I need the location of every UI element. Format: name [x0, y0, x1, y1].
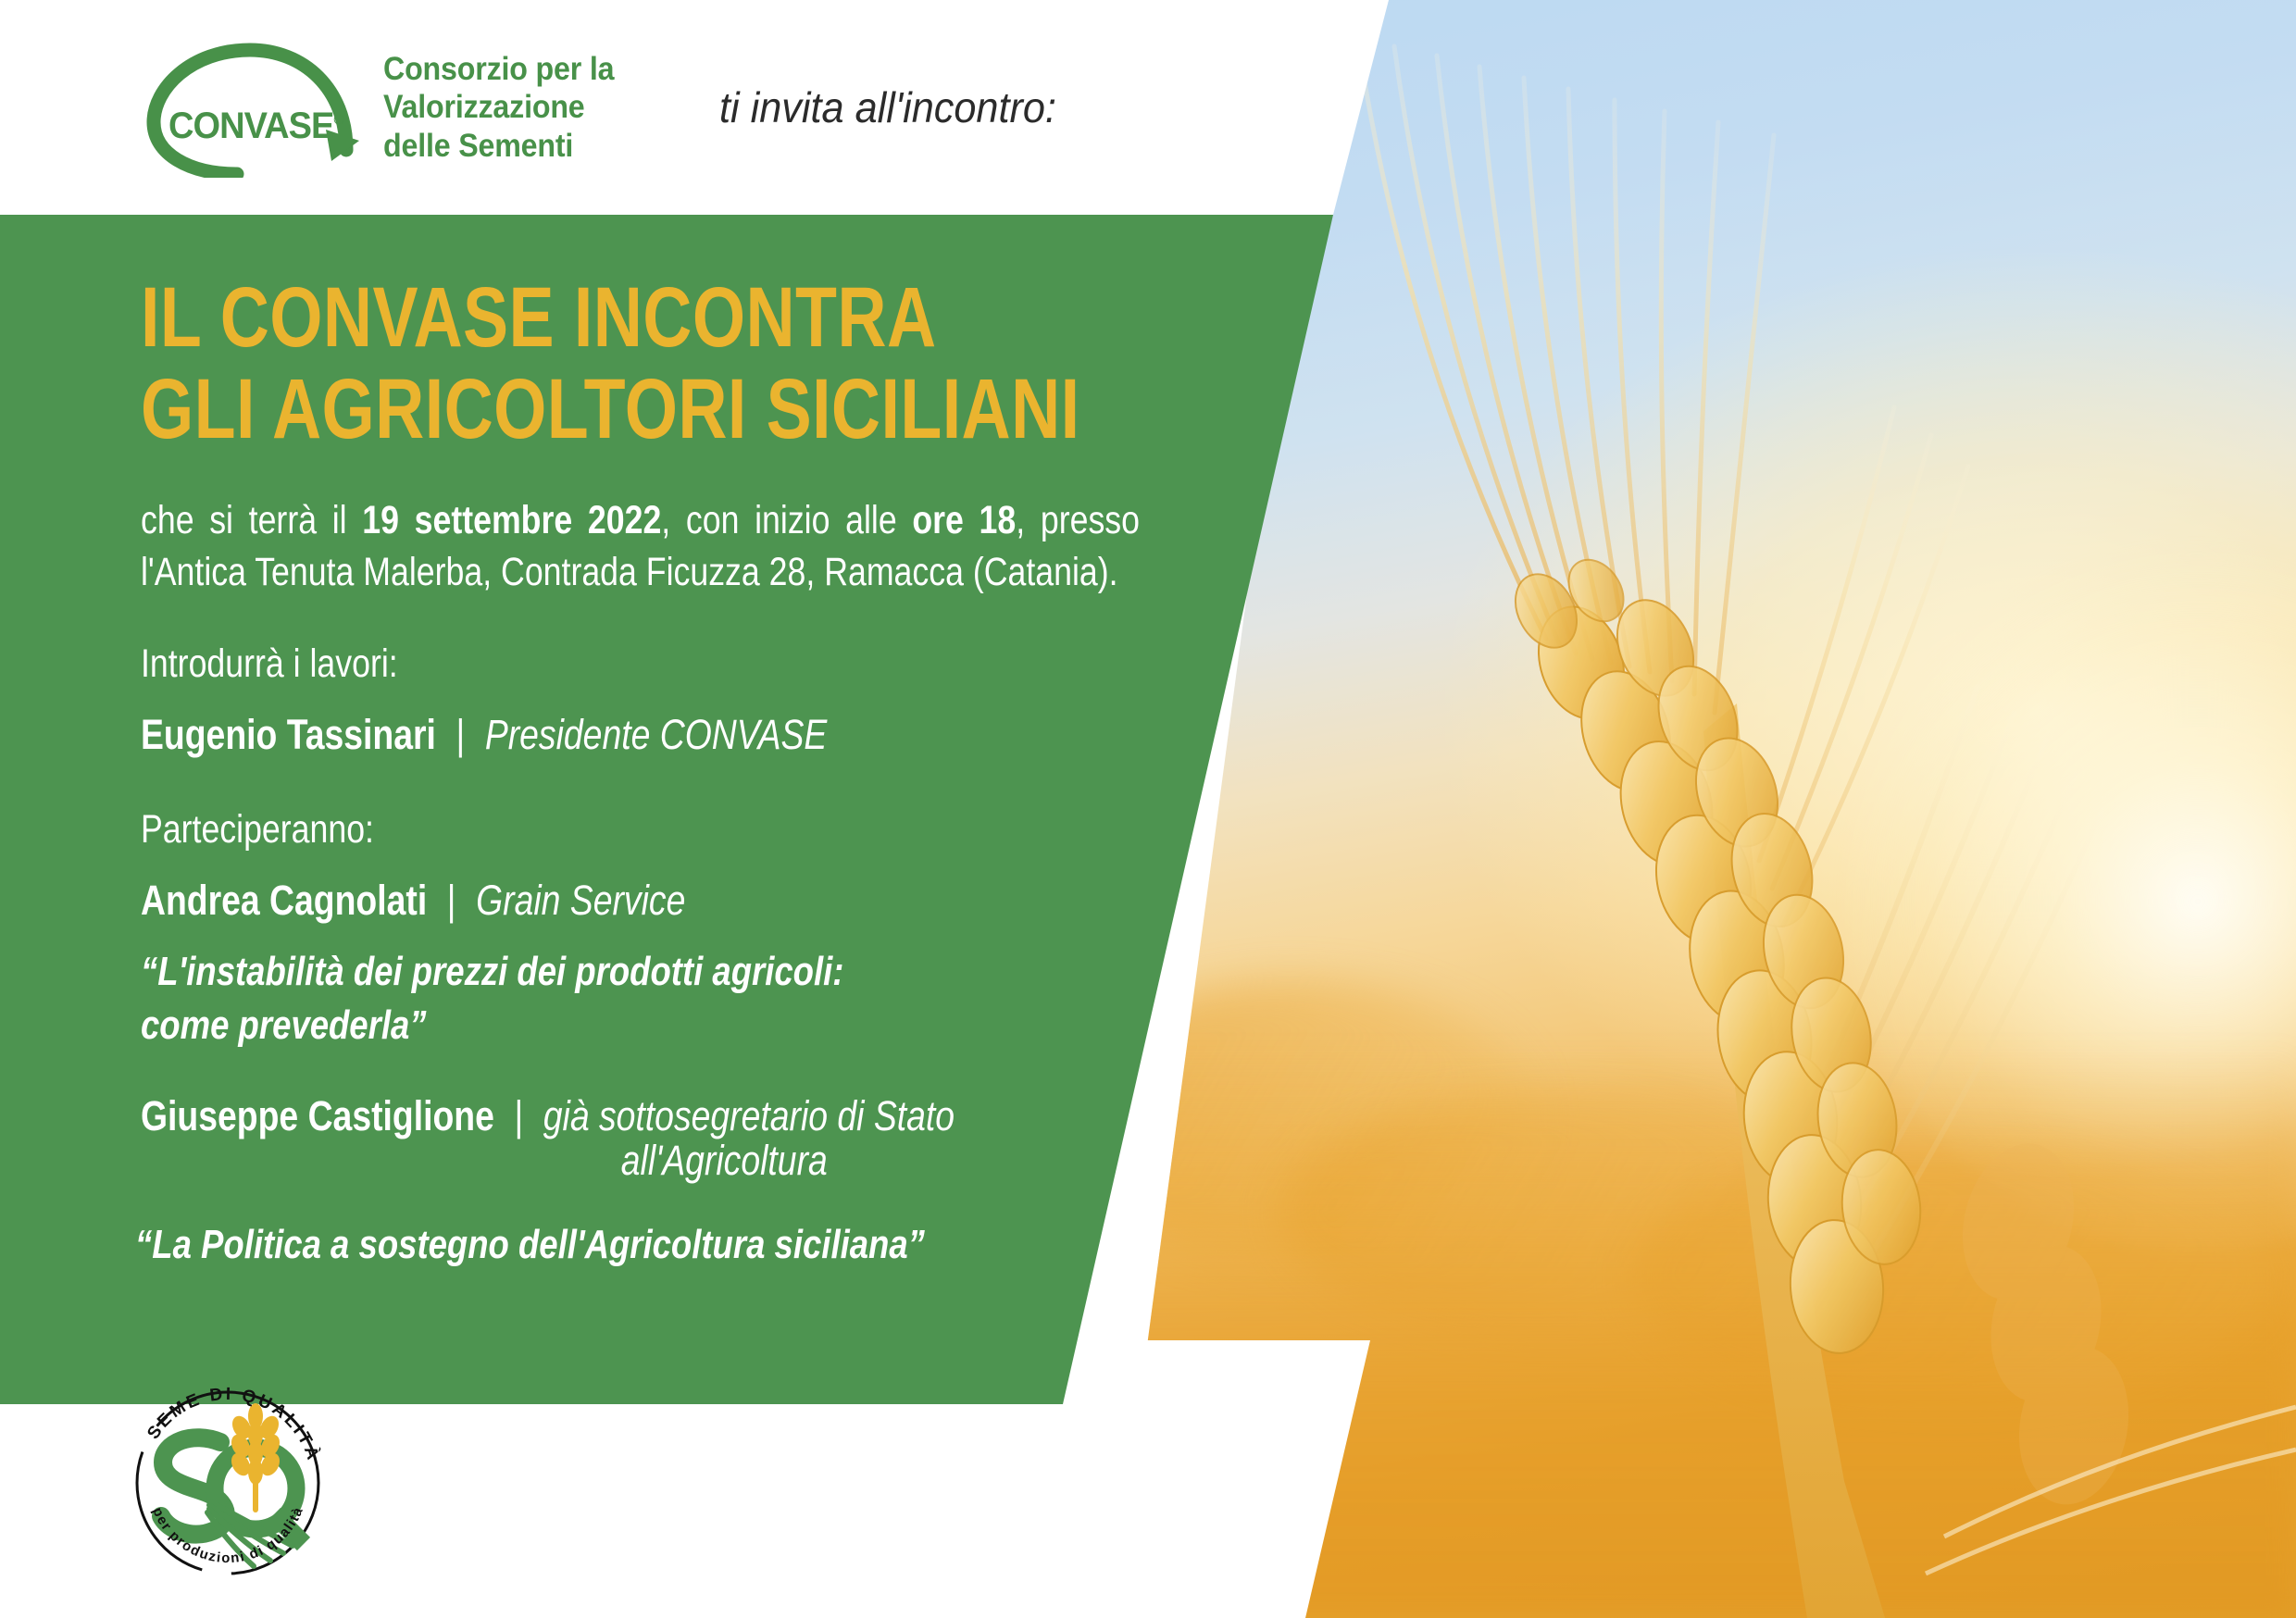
- participant-role: già sottosegretario di Stato: [543, 1092, 955, 1139]
- convase-wordmark: CONVASE: [168, 106, 333, 146]
- seme-di-qualita-logo: SEME DI QUALITÀ per produzioni di qualit…: [120, 1375, 335, 1590]
- page-title: IL CONVASE INCONTRA GLI AGRICOLTORI SICI…: [141, 272, 1094, 456]
- details-pre-date: che si terrà il: [141, 498, 362, 542]
- event-details: che si terrà il 19 settembre 2022, con i…: [141, 495, 1140, 599]
- convase-arc-logo: CONVASE®: [141, 37, 363, 178]
- participant-talk-title: “La Politica a sostegno dell'Agricoltura…: [135, 1218, 1129, 1273]
- poster-header: CONVASE® Consorzio per la Valorizzazione…: [0, 0, 1389, 215]
- logo-subtitle: Consorzio per la Valorizzazione delle Se…: [383, 50, 614, 165]
- invitation-line: ti invita all'incontro:: [719, 82, 1056, 132]
- participant-row: Andrea Cagnolati|Grain Service: [141, 877, 1130, 925]
- event-time: ore 18: [912, 498, 1016, 542]
- participant-role-line2: all'Agricoltura: [141, 1137, 1130, 1185]
- sq-logo-svg: SEME DI QUALITÀ per produzioni di qualit…: [120, 1375, 335, 1590]
- details-mid: , con inizio alle: [661, 498, 912, 542]
- participant-talk-title: “L'instabilità dei prezzi dei prodotti a…: [141, 945, 1130, 1053]
- poster-canvas: CONVASE® Consorzio per la Valorizzazione…: [0, 0, 2296, 1618]
- participant-separator: |: [494, 1092, 543, 1140]
- intro-label: Introdurrà i lavori:: [141, 641, 1130, 687]
- participant-role: Grain Service: [476, 877, 685, 924]
- speaker-name: Eugenio Tassinari: [141, 711, 436, 758]
- speaker-intro: Eugenio Tassinari|Presidente CONVASE: [141, 711, 1130, 759]
- participant-name: Andrea Cagnolati: [141, 877, 427, 924]
- speaker-role: Presidente CONVASE: [485, 711, 828, 758]
- registered-mark-icon: ®: [333, 113, 343, 129]
- participant-name: Giuseppe Castiglione: [141, 1092, 494, 1139]
- event-date: 19 settembre 2022: [362, 498, 661, 542]
- participant-row: Giuseppe Castiglione|già sottosegretario…: [141, 1092, 1130, 1140]
- main-content: IL CONVASE INCONTRA GLI AGRICOLTORI SICI…: [0, 215, 1333, 1404]
- participant-separator: |: [427, 877, 476, 925]
- participants-label: Parteciperanno:: [141, 807, 1130, 853]
- speaker-separator: |: [436, 711, 485, 759]
